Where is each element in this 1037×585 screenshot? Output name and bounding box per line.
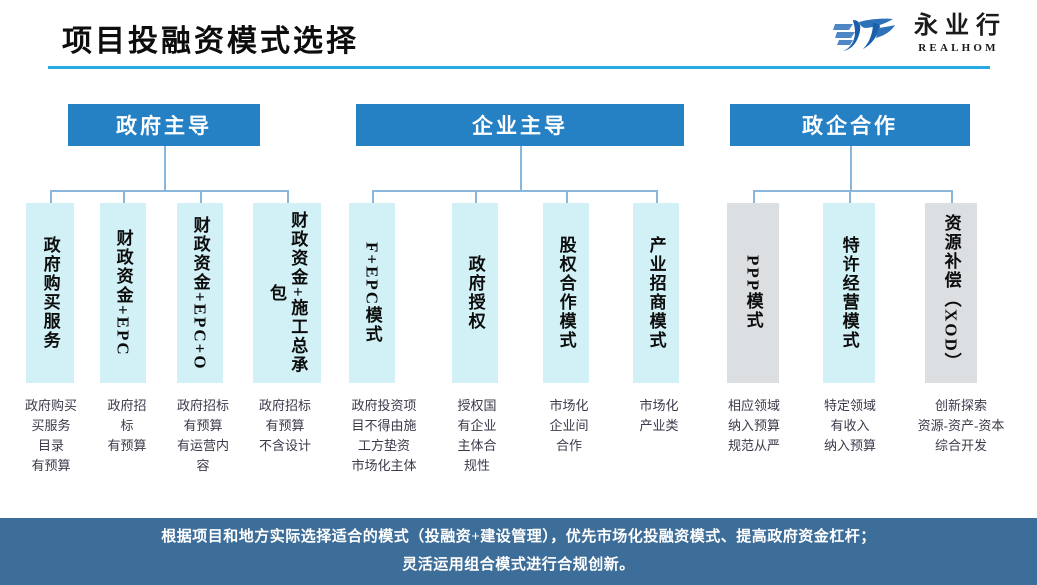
connector-drop [753, 190, 755, 203]
logo-english-name: REALHOM [915, 43, 998, 54]
mode-card-label: 财政资金+EPC+O [189, 216, 210, 371]
connector-drop [50, 190, 52, 203]
connector-drop [656, 190, 658, 203]
mode-card-label: 特许经营模式 [838, 236, 859, 350]
mode-card-label: 政府购买服务 [39, 236, 60, 350]
mode-card-label: 财政资金+施工总承包 [266, 209, 309, 377]
company-logo: 永业行 REALHOM [833, 14, 1007, 54]
connector-stem [520, 146, 522, 190]
mode-card[interactable]: 财政资金+EPC [100, 203, 146, 383]
connector-drop [849, 190, 851, 203]
yh-monogram-icon [833, 14, 897, 54]
logo-wordmark: 永业行 REALHOM [907, 14, 1007, 54]
mode-card-caption: 特定领域有收入纳入预算 [804, 396, 896, 456]
mode-card-label: 产业招商模式 [645, 236, 666, 350]
connector-drop [287, 190, 289, 203]
mode-card-label: F+EPC模式 [361, 242, 382, 344]
connector-drop [475, 190, 477, 203]
mode-card[interactable]: 股权合作模式 [543, 203, 589, 383]
footer-banner: 根据项目和地方实际选择适合的模式（投融资+建设管理），优先市场化投融资模式、提高… [0, 518, 1037, 585]
connector-bus [50, 190, 287, 192]
mode-card-caption: 政府招标有预算不含设计 [243, 396, 327, 456]
page-title: 项目投融资模式选择 [62, 16, 359, 60]
group-header-ppp-cooperation[interactable]: 政企合作 [730, 104, 970, 146]
slide-canvas: 项目投融资模式选择 永业行 REALHOM 政府主导 企业主导 政企合作 政府购… [0, 0, 1037, 585]
mode-card-label: 股权合作模式 [555, 236, 576, 350]
connector-drop [566, 190, 568, 203]
mode-card-caption: 市场化产业类 [620, 396, 698, 436]
logo-chinese-name: 永业行 [907, 14, 1007, 38]
connector-drop [200, 190, 202, 203]
mode-card-caption: 政府投资项目不得由施工方垫资市场化主体 [336, 396, 432, 477]
mode-card-label: 财政资金+EPC [112, 229, 133, 357]
mode-card[interactable]: PPP模式 [727, 203, 779, 383]
mode-card[interactable]: 资源补偿（XOD） [925, 203, 977, 383]
connector-bus [372, 190, 656, 192]
mode-card-caption: 相应领域纳入预算规范从严 [706, 396, 802, 456]
connector-stem [850, 146, 852, 190]
mode-card[interactable]: 产业招商模式 [633, 203, 679, 383]
mode-card[interactable]: F+EPC模式 [349, 203, 395, 383]
mode-card-caption: 市场化企业间合作 [530, 396, 608, 456]
mode-card[interactable]: 特许经营模式 [823, 203, 875, 383]
mode-card-caption: 授权国有企业主体合规性 [438, 396, 516, 477]
connector-bus [753, 190, 951, 192]
connector-stem [164, 146, 166, 190]
footer-line-2: 灵活运用组合模式进行合规创新。 [402, 557, 635, 573]
footer-text: 根据项目和地方实际选择适合的模式（投融资+建设管理），优先市场化投融资模式、提高… [39, 524, 999, 580]
connector-drop [372, 190, 374, 203]
mode-card-caption: 政府招标有预算 [92, 396, 162, 456]
mode-card-label: 资源补偿（XOD） [940, 214, 961, 372]
footer-line-1: 根据项目和地方实际选择适合的模式（投融资+建设管理），优先市场化投融资模式、提高… [161, 529, 876, 545]
title-underline-rule [48, 66, 990, 69]
mode-card[interactable]: 财政资金+EPC+O [177, 203, 223, 383]
mode-card-caption: 政府招标有预算有运营内容 [163, 396, 243, 477]
mode-card-caption: 政府购买买服务目录有预算 [12, 396, 90, 477]
mode-card[interactable]: 财政资金+施工总承包 [253, 203, 321, 383]
group-header-government-led[interactable]: 政府主导 [68, 104, 260, 146]
mode-card[interactable]: 政府购买服务 [26, 203, 74, 383]
connector-drop [951, 190, 953, 203]
mode-card-label: PPP模式 [742, 255, 763, 330]
group-header-enterprise-led[interactable]: 企业主导 [356, 104, 684, 146]
mode-card-label: 政府授权 [464, 255, 485, 331]
mode-card-caption: 创新探索资源-资产-资本综合开发 [902, 396, 1020, 456]
mode-card[interactable]: 政府授权 [452, 203, 498, 383]
connector-drop [123, 190, 125, 203]
